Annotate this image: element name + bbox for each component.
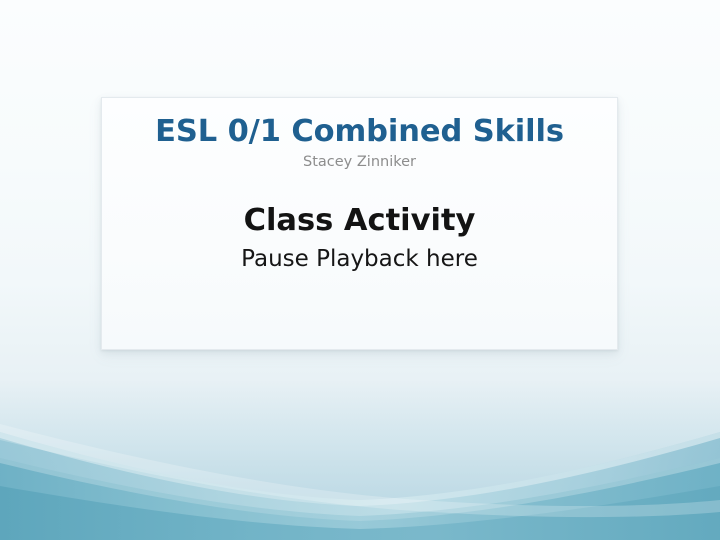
slide-text-stack: ESL 0/1 Combined Skills Stacey Zinniker … bbox=[102, 116, 617, 273]
slide-author: Stacey Zinniker bbox=[116, 155, 603, 171]
presentation-slide: ESL 0/1 Combined Skills Stacey Zinniker … bbox=[0, 0, 720, 540]
content-box: ESL 0/1 Combined Skills Stacey Zinniker … bbox=[101, 97, 618, 350]
playback-instruction: Pause Playback here bbox=[116, 247, 603, 273]
activity-heading: Class Activity bbox=[116, 205, 603, 238]
slide-title: ESL 0/1 Combined Skills bbox=[116, 116, 603, 149]
